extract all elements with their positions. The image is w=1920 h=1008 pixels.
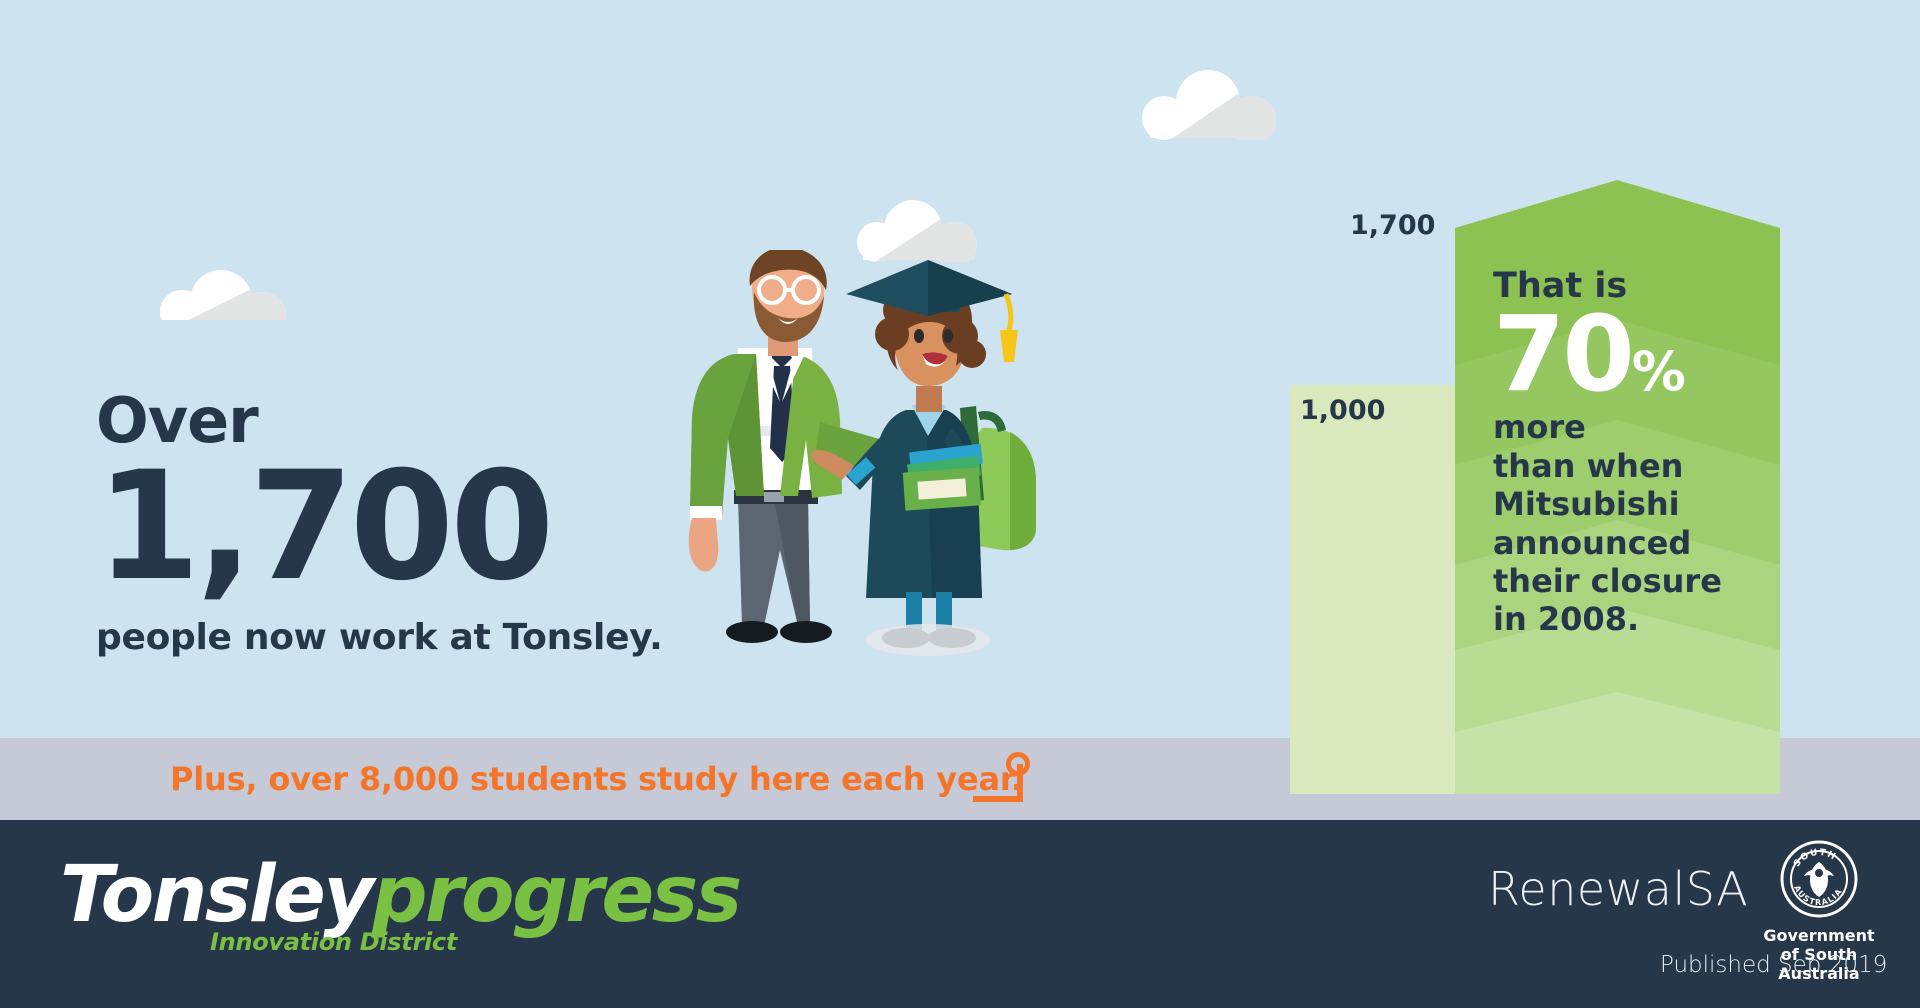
callout-line-2: than when [1493,447,1763,485]
callout-percent-number: 70 [1493,293,1632,415]
renewal-sa-logo: RenewalSA [1488,862,1748,916]
callout-line-5: their closure [1493,562,1763,600]
callout-line-6: in 2008. [1493,600,1763,638]
bar-now: 1,700 [1455,180,1780,794]
illustration-people [660,250,1160,770]
published-date: Published Sep 2019 [1660,952,1887,978]
logo-part-tonsley: Tonsley [60,850,372,940]
callout-percent: 70% [1493,307,1763,403]
logo-part-progress: progress [372,850,740,940]
note-leader-line [988,752,1048,802]
cloud-left [160,270,290,320]
cloud-right [1140,70,1280,130]
bar-2008-value-label: 1,000 [1300,395,1385,426]
comparison-bar-chart: 1,000 1,700 [1290,180,1780,794]
bar-now-value-label: 1,700 [1350,210,1435,241]
logo-wordmark: Tonsleyprogress [60,856,740,934]
cloud-middle [855,200,985,250]
bar-callout-text: That is 70% more than when Mitsubishi an… [1493,268,1763,639]
logo-tagline: Innovation District [210,928,457,956]
leader-horizontal [973,796,1023,802]
headline-subline: people now work at Tonsley. [96,617,662,658]
callout-body: more than when Mitsubishi announced thei… [1493,408,1763,638]
infographic-canvas: Over 1,700 people now work at Tonsley. [0,0,1920,1008]
bar-2008: 1,000 [1290,385,1458,794]
leader-endpoint-circle [1006,752,1030,776]
headline-block: Over 1,700 people now work at Tonsley. [96,390,662,658]
callout-line-3: Mitsubishi [1493,485,1763,523]
tonsley-progress-logo: Tonsleyprogress Innovation District [60,856,740,934]
callout-line-4: announced [1493,524,1763,562]
crest-caption-line1: Government [1744,927,1894,946]
students-note: Plus, over 8,000 students study here eac… [170,760,1023,798]
crest-emblem-icon: SOUTH AUSTRALIA [1780,840,1858,918]
callout-percent-symbol: % [1632,340,1684,403]
headline-number: 1,700 [96,456,662,599]
